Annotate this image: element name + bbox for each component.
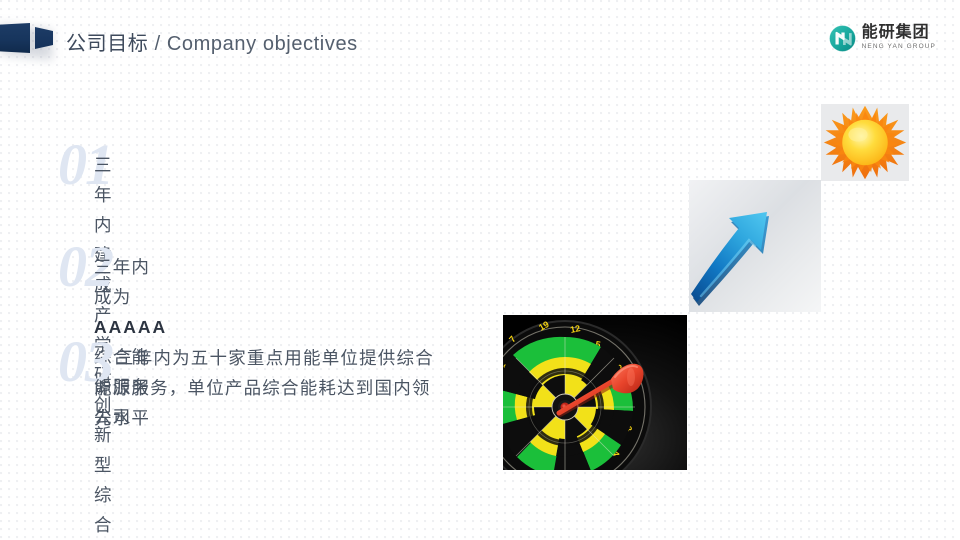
logo-name-cn: 能研集团 <box>862 25 936 41</box>
logo-name-en: NENG YAN GROUP <box>862 44 936 51</box>
company-logo: 能研集团 NENG YAN GROUP <box>829 21 936 55</box>
logo-wordmark: 能研集团 NENG YAN GROUP <box>862 25 936 51</box>
sun-image <box>821 104 909 181</box>
slide-canvas: 公司目标 / Company objectives <box>0 0 960 540</box>
objective-text-3-line-1: 三年内为五十家重点用能单位提供综合 <box>94 343 494 373</box>
dartboard-image: 7 19 12 5 20 1 18 4 16 <box>503 315 687 470</box>
slide-header: 公司目标 / Company objectives <box>0 0 960 78</box>
header-ribbon-decoration <box>0 21 60 59</box>
objective-text-2-before: 三年内成为 <box>94 257 150 307</box>
page-title-separator: / <box>148 33 166 55</box>
objective-text-3-line-2: 能源服务，单位产品综合能耗达到国内领 <box>94 373 494 403</box>
page-title-cn: 公司目标 <box>66 33 148 55</box>
growth-arrow-image <box>689 180 821 312</box>
objective-text-3-line-3: 先水平 <box>94 403 494 433</box>
logo-circle-icon <box>829 25 856 52</box>
objective-text-3: 三年内为五十家重点用能单位提供综合 能源服务，单位产品综合能耗达到国内领 先水平 <box>94 343 494 433</box>
svg-text:12: 12 <box>569 323 581 335</box>
ribbon-primary-shape <box>0 23 30 53</box>
page-title-en: Company objectives <box>167 33 358 55</box>
page-title: 公司目标 / Company objectives <box>66 27 358 56</box>
